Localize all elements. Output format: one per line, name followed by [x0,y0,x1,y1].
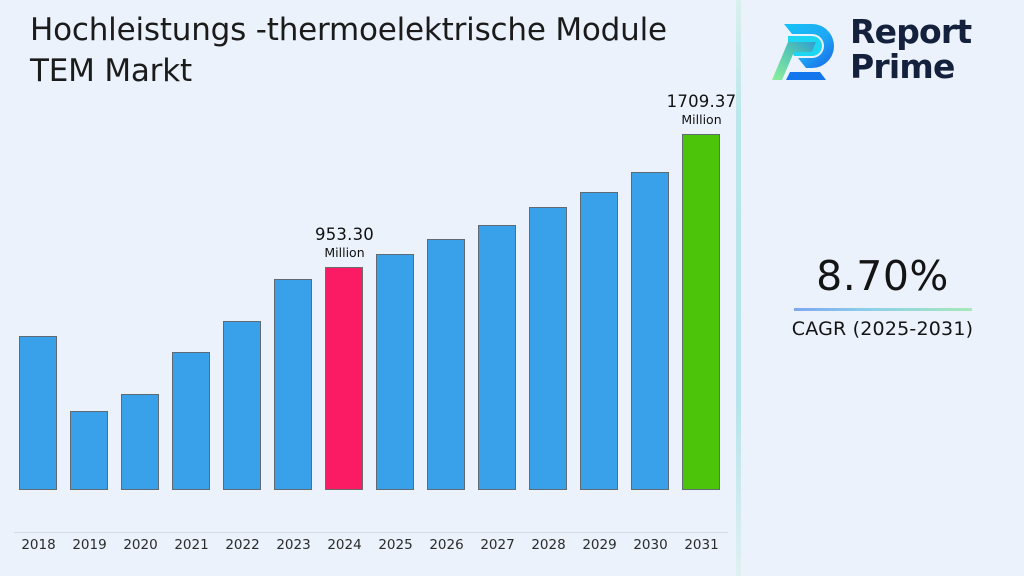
report-prime-r-logo-icon [768,16,840,88]
bar-2030[interactable] [631,172,669,490]
bar-slot [166,0,217,490]
brand-line-2: Prime [850,49,1010,84]
x-tick-2023: 2023 [268,537,319,553]
bar-series: 953.30Million1709.37Million [0,0,738,533]
x-tick-2021: 2021 [166,537,217,553]
x-tick-2027: 2027 [472,537,523,553]
x-tick-2018: 2018 [13,537,64,553]
x-tick-2022: 2022 [217,537,268,553]
infographic-page: Hochleistungs -thermoelektrische Module … [0,0,1024,576]
bar-slot [370,0,421,490]
x-tick-2019: 2019 [64,537,115,553]
brand-logo: Report Prime [768,12,1008,94]
bar-2020[interactable] [121,394,159,490]
bar-slot [421,0,472,490]
bar-slot [217,0,268,490]
x-tick-2029: 2029 [574,537,625,553]
cagr-value: 8.70% [741,252,1024,300]
bar-2027[interactable] [478,225,516,490]
x-tick-2031: 2031 [676,537,727,553]
bar-2021[interactable] [172,352,210,490]
bar-slot: 953.30Million [319,0,370,490]
bar-2031[interactable] [682,134,720,490]
bar-2028[interactable] [529,207,567,490]
x-tick-2030: 2030 [625,537,676,553]
x-tick-2028: 2028 [523,537,574,553]
cagr-caption: CAGR (2025-2031) [741,317,1024,341]
x-tick-2025: 2025 [370,537,421,553]
cagr-divider-rule [794,308,972,311]
bar-slot [472,0,523,490]
x-tick-2020: 2020 [115,537,166,553]
bar-slot [13,0,64,490]
chart-panel: Hochleistungs -thermoelektrische Module … [0,0,738,576]
bar-slot [574,0,625,490]
brand-line-1: Report [850,14,1010,49]
cagr-block: 8.70% CAGR (2025-2031) [741,252,1024,341]
bar-2023[interactable] [274,279,312,490]
bar-slot [115,0,166,490]
bar-slot: 1709.37Million [676,0,727,490]
bar-chart-plot: 953.30Million1709.37Million [0,0,738,533]
x-axis-tick-labels: 2018201920202021202220232024202520262027… [0,537,738,567]
bar-2025[interactable] [376,254,414,490]
bar-slot [64,0,115,490]
brand-wordmark: Report Prime [850,14,1010,84]
bar-slot [625,0,676,490]
x-tick-2026: 2026 [421,537,472,553]
bar-2024[interactable] [325,267,363,490]
bar-2019[interactable] [70,411,108,490]
bar-slot [523,0,574,490]
bar-2022[interactable] [223,321,261,490]
bar-2026[interactable] [427,239,465,490]
bar-2018[interactable] [19,336,57,490]
brand-panel: Report Prime 8.70% CAGR (2025-2031) [741,0,1024,576]
x-tick-2024: 2024 [319,537,370,553]
bar-2029[interactable] [580,192,618,490]
